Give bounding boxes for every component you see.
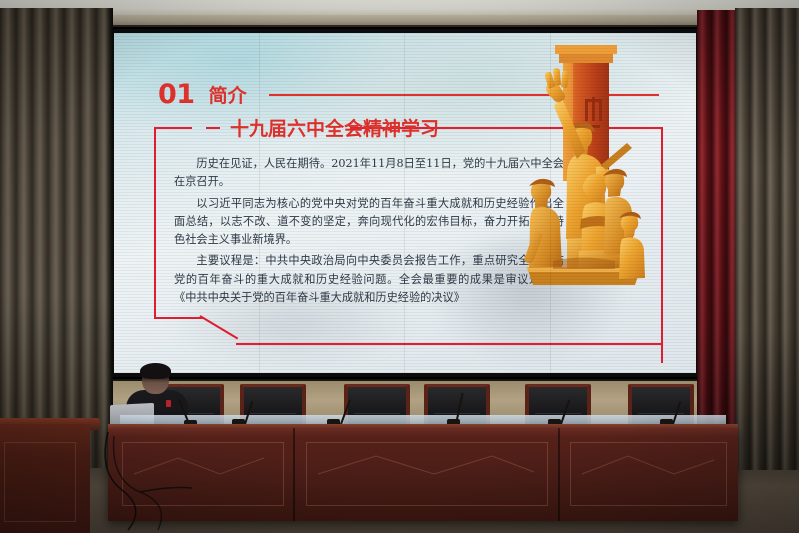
monument-sculpture-graphic bbox=[509, 39, 659, 291]
podium-panel bbox=[4, 442, 76, 522]
slide-title-row: 十九届六中全会精神学习 bbox=[206, 114, 493, 141]
led-screen: 01 简介 十九届六中全会精神学习 历史在见证，人民在期待。2021年11月8日… bbox=[114, 33, 696, 373]
kicker-label: 简介 bbox=[209, 81, 247, 108]
presenter-badge bbox=[166, 400, 171, 407]
frame-diagonal-notch bbox=[199, 315, 238, 339]
slide-paragraph-3: 主要议程是：中共中央政治局向中央委员会报告工作，重点研究全面总结党的百年奋斗的重… bbox=[174, 252, 564, 307]
slide-body: 历史在见证，人民在期待。2021年11月8日至11日，党的十九届六中全会在京召开… bbox=[174, 155, 564, 310]
ceiling bbox=[0, 0, 799, 16]
kicker-number: 01 bbox=[158, 79, 195, 110]
curtain-right bbox=[735, 8, 799, 470]
curtain-red bbox=[697, 10, 739, 465]
presenter-hair bbox=[140, 363, 171, 379]
frame-right bbox=[661, 127, 663, 363]
floor-cables bbox=[80, 430, 220, 533]
slide-paragraph-2: 以习近平同志为核心的党中央对党的百年奋斗重大成就和历史经验作出全面总结，以志不改… bbox=[174, 195, 564, 250]
frame-bottom-right bbox=[236, 343, 663, 345]
frame-top-left bbox=[154, 127, 192, 129]
slide-paragraph-1: 历史在见证，人民在期待。2021年11月8日至11日，党的十九届六中全会在京召开… bbox=[174, 155, 564, 192]
title-dash-right bbox=[449, 127, 493, 129]
title-dash-left bbox=[206, 127, 220, 129]
frame-left bbox=[154, 127, 156, 319]
curtain-left bbox=[0, 8, 113, 468]
frame-bottom-left bbox=[154, 317, 204, 319]
slide-title: 十九届六中全会精神学习 bbox=[230, 114, 439, 141]
conference-room-scene: 01 简介 十九届六中全会精神学习 历史在见证，人民在期待。2021年11月8日… bbox=[0, 0, 799, 533]
podium bbox=[0, 424, 90, 533]
